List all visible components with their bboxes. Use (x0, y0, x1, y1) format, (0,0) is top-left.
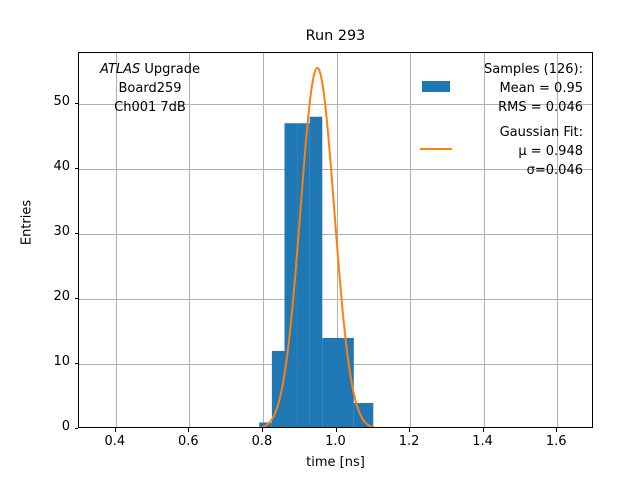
y-axis-tick-label: 10 (22, 354, 70, 369)
legend-label: μ = 0.948 (412, 142, 587, 161)
figure-canvas: Run 293 0.40.60.81.01.21.41.601020304050… (0, 0, 640, 480)
legend-entry[interactable]: Samples (126):Mean = 0.95RMS = 0.046 (412, 60, 587, 117)
x-axis-tick (262, 428, 263, 432)
annotation-line-2: Board259 (100, 79, 200, 98)
annotation-textbox: ATLAS Upgrade Board259 Ch001 7dB (100, 60, 200, 117)
y-axis-tick (75, 233, 79, 234)
x-axis-tick-label: 1.6 (526, 434, 586, 449)
y-axis-tick (75, 428, 79, 429)
y-axis-tick-label: 0 (22, 419, 70, 434)
y-axis-tick (75, 298, 79, 299)
x-axis-tick-label: 0.4 (85, 434, 145, 449)
y-axis-tick (75, 103, 79, 104)
legend-label: RMS = 0.046 (412, 98, 587, 117)
x-axis-tick-label: 1.2 (379, 434, 439, 449)
histogram-bar (322, 338, 354, 428)
x-axis-tick (188, 428, 189, 432)
x-axis-tick (115, 428, 116, 432)
legend-label: Gaussian Fit: (412, 123, 587, 142)
legend-entry[interactable]: Gaussian Fit:μ = 0.948σ=0.046 (412, 123, 587, 180)
y-axis-tick (75, 363, 79, 364)
y-axis-tick-label: 50 (22, 94, 70, 109)
legend-label: Samples (126): (412, 60, 587, 79)
legend-label: σ=0.046 (412, 161, 587, 180)
chart-title: Run 293 (78, 28, 593, 44)
x-axis-tick-label: 0.8 (232, 434, 292, 449)
histogram-bar (310, 117, 323, 428)
x-axis-tick (556, 428, 557, 432)
annotation-atlas-label: ATLAS (100, 62, 140, 77)
y-axis-tick-label: 20 (22, 289, 70, 304)
annotation-line-3: Ch001 7dB (100, 98, 200, 117)
y-axis-label: Entries (20, 163, 35, 283)
annotation-upgrade-label: Upgrade (140, 62, 200, 77)
x-axis-tick (336, 428, 337, 432)
x-axis-tick (409, 428, 410, 432)
x-axis-tick-label: 0.6 (158, 434, 218, 449)
legend-swatch-line-icon (420, 148, 452, 150)
y-axis-tick (75, 168, 79, 169)
x-axis-tick-label: 1.4 (453, 434, 513, 449)
annotation-line-1: ATLAS Upgrade (100, 60, 200, 79)
x-axis-tick-label: 1.0 (306, 434, 366, 449)
legend-swatch-patch-icon (422, 81, 450, 92)
x-axis-label: time [ns] (78, 455, 593, 470)
x-axis-tick (483, 428, 484, 432)
chart-legend: Samples (126):Mean = 0.95RMS = 0.046Gaus… (412, 60, 587, 180)
